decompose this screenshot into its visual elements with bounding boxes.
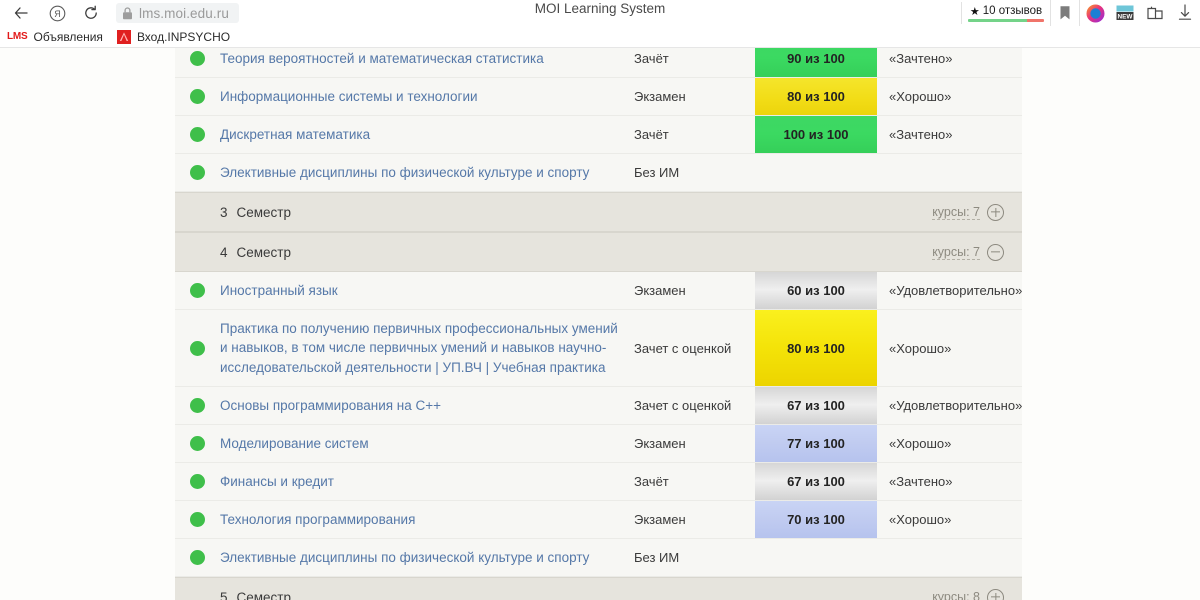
control-type-cell: Зачет с оценкой <box>634 387 755 424</box>
reviews-badge[interactable]: ★ 10 отзывов <box>961 2 1050 24</box>
mark-cell: «Хорошо» <box>877 78 1022 115</box>
table-row: Иностранный языкЭкзамен60 из 100«Удовлет… <box>175 272 1022 310</box>
svg-text:Я: Я <box>54 9 61 19</box>
score-cell: 67 из 100 <box>755 463 877 500</box>
collapse-minus-icon[interactable] <box>987 244 1004 261</box>
mark-cell: «Хорошо» <box>877 310 1022 386</box>
mark-cell <box>877 539 1022 576</box>
score-cell: 80 из 100 <box>755 78 877 115</box>
status-dot-icon <box>190 474 205 489</box>
course-link[interactable]: Моделирование систем <box>220 434 369 454</box>
status-dot-icon <box>190 398 205 413</box>
course-link[interactable]: Иностранный язык <box>220 281 338 301</box>
mark-cell: «Удовлетворительно» <box>877 272 1022 309</box>
address-bar[interactable]: lms.moi.edu.ru <box>116 3 239 23</box>
semester-course-count[interactable]: курсы: 7 <box>932 245 980 260</box>
lock-icon <box>120 6 134 20</box>
table-row: Моделирование системЭкзамен77 из 100«Хор… <box>175 425 1022 463</box>
course-name-cell: Элективные дисциплины по физической куль… <box>220 154 634 191</box>
mark-cell: «Хорошо» <box>877 501 1022 538</box>
course-name-cell: Дискретная математика <box>220 116 634 153</box>
reload-icon <box>83 5 99 21</box>
table-row: Теория вероятностей и математическая ста… <box>175 48 1022 78</box>
course-name-cell: Элективные дисциплины по физической куль… <box>220 539 634 576</box>
browser-chrome: Я lms.moi.edu.ru MOI Learning System <box>0 0 1200 48</box>
semester-header-row[interactable]: 5Семестркурсы: 8 <box>175 577 1022 600</box>
course-link[interactable]: Практика по получению первичных професси… <box>220 319 620 378</box>
status-dot-icon <box>190 283 205 298</box>
status-cell <box>175 425 220 462</box>
table-row: Основы программирования на С++Зачет с оц… <box>175 387 1022 425</box>
status-dot-icon <box>190 436 205 451</box>
mark-cell <box>877 154 1022 191</box>
status-cell <box>175 48 220 77</box>
semester-course-count[interactable]: курсы: 7 <box>932 205 980 220</box>
svg-text:NEW: NEW <box>1118 14 1134 21</box>
table-row: Элективные дисциплины по физической куль… <box>175 154 1022 192</box>
bookmark-item-inpsycho[interactable]: Вход.INPSYCHO <box>110 27 237 47</box>
yandex-home-button[interactable]: Я <box>42 1 72 25</box>
course-link[interactable]: Элективные дисциплины по физической куль… <box>220 163 589 183</box>
table-row: Финансы и кредитЗачёт67 из 100«Зачтено» <box>175 463 1022 501</box>
score-cell: 70 из 100 <box>755 501 877 538</box>
table-row: Технология программированияЭкзамен70 из … <box>175 501 1022 539</box>
mark-cell: «Хорошо» <box>877 425 1022 462</box>
status-cell <box>175 387 220 424</box>
course-link[interactable]: Дискретная математика <box>220 125 370 145</box>
course-link[interactable]: Информационные системы и технологии <box>220 87 478 107</box>
status-cell <box>175 154 220 191</box>
browser-toolbar: Я lms.moi.edu.ru MOI Learning System <box>0 0 1200 26</box>
course-link[interactable]: Технология программирования <box>220 510 415 530</box>
mark-cell: «Зачтено» <box>877 116 1022 153</box>
lms-site-icon: LMS <box>7 31 28 42</box>
score-cell: 67 из 100 <box>755 387 877 424</box>
score-cell: 90 из 100 <box>755 48 877 77</box>
control-type-cell: Экзамен <box>634 272 755 309</box>
status-cell <box>175 463 220 500</box>
course-name-cell: Иностранный язык <box>220 272 634 309</box>
table-row: Практика по получению первичных професси… <box>175 310 1022 387</box>
course-name-cell: Финансы и кредит <box>220 463 634 500</box>
rating-bar <box>968 19 1044 22</box>
score-cell <box>755 154 877 191</box>
status-cell <box>175 310 220 386</box>
course-name-cell: Технология программирования <box>220 501 634 538</box>
score-cell: 77 из 100 <box>755 425 877 462</box>
course-name-cell: Моделирование систем <box>220 425 634 462</box>
expand-plus-icon[interactable] <box>987 589 1004 600</box>
course-link[interactable]: Элективные дисциплины по физической куль… <box>220 548 589 568</box>
semester-number: 5 <box>220 590 228 600</box>
grades-table: Теория вероятностей и математическая ста… <box>175 48 1022 600</box>
semester-course-count[interactable]: курсы: 8 <box>932 590 980 600</box>
control-type-cell: Экзамен <box>634 78 755 115</box>
star-icon: ★ <box>970 5 980 18</box>
table-row: Информационные системы и технологииЭкзам… <box>175 78 1022 116</box>
semester-header-row[interactable]: 4Семестркурсы: 7 <box>175 232 1022 272</box>
score-cell: 80 из 100 <box>755 310 877 386</box>
status-dot-icon <box>190 550 205 565</box>
score-cell: 100 из 100 <box>755 116 877 153</box>
toolbar-right-actions: ★ 10 отзывов <box>961 0 1200 26</box>
bookmark-label: Объявления <box>34 30 103 44</box>
bookmark-item-announcements[interactable]: LMS Объявления <box>0 27 110 47</box>
yandex-logo-icon: Я <box>49 5 66 22</box>
semester-header-row[interactable]: 3Семестркурсы: 7 <box>175 192 1022 232</box>
status-dot-icon <box>190 127 205 142</box>
table-row: Дискретная математикаЗачёт100 из 100«Зач… <box>175 116 1022 154</box>
bookmark-flag-icon[interactable] <box>1050 0 1080 26</box>
table-row: Элективные дисциплины по физической куль… <box>175 539 1022 577</box>
new-extension-icon[interactable]: NEW <box>1110 0 1140 26</box>
control-type-cell: Без ИМ <box>634 154 755 191</box>
status-cell <box>175 501 220 538</box>
control-type-cell: Экзамен <box>634 501 755 538</box>
mark-cell: «Зачтено» <box>877 48 1022 77</box>
back-arrow-icon <box>13 5 29 21</box>
semester-label: Семестр <box>237 590 292 600</box>
status-dot-icon <box>190 165 205 180</box>
bookmark-label: Вход.INPSYCHO <box>137 30 230 44</box>
control-type-cell: Зачет с оценкой <box>634 310 755 386</box>
pocket-icon[interactable] <box>1140 0 1170 26</box>
status-cell <box>175 116 220 153</box>
profile-avatar-icon[interactable] <box>1080 0 1110 26</box>
reload-button[interactable] <box>76 1 106 25</box>
semester-number: 4 <box>220 245 228 260</box>
course-name-cell: Информационные системы и технологии <box>220 78 634 115</box>
status-dot-icon <box>190 89 205 104</box>
status-dot-icon <box>190 341 205 356</box>
status-cell <box>175 78 220 115</box>
reviews-label: 10 отзывов <box>983 5 1042 17</box>
mark-cell: «Зачтено» <box>877 463 1022 500</box>
control-type-cell: Зачёт <box>634 48 755 77</box>
score-cell: 60 из 100 <box>755 272 877 309</box>
inpsycho-site-icon <box>117 30 131 44</box>
back-button[interactable] <box>6 1 36 25</box>
course-link[interactable]: Теория вероятностей и математическая ста… <box>220 49 544 69</box>
status-dot-icon <box>190 512 205 527</box>
bookmarks-bar: LMS Объявления Вход.INPSYCHO <box>0 26 1200 48</box>
score-cell <box>755 539 877 576</box>
status-dot-icon <box>190 51 205 66</box>
semester-label: Семестр <box>237 245 292 260</box>
course-name-cell: Теория вероятностей и математическая ста… <box>220 48 634 77</box>
control-type-cell: Экзамен <box>634 425 755 462</box>
semester-label: Семестр <box>237 205 292 220</box>
mark-cell: «Удовлетворительно» <box>877 387 1022 424</box>
expand-plus-icon[interactable] <box>987 204 1004 221</box>
status-cell <box>175 272 220 309</box>
page-viewport: Теория вероятностей и математическая ста… <box>0 48 1200 600</box>
downloads-icon[interactable] <box>1170 0 1200 26</box>
course-name-cell: Практика по получению первичных професси… <box>220 310 634 386</box>
url-text: lms.moi.edu.ru <box>139 6 229 21</box>
semester-number: 3 <box>220 205 228 220</box>
control-type-cell: Зачёт <box>634 116 755 153</box>
control-type-cell: Без ИМ <box>634 539 755 576</box>
course-link[interactable]: Финансы и кредит <box>220 472 334 492</box>
status-cell <box>175 539 220 576</box>
control-type-cell: Зачёт <box>634 463 755 500</box>
course-link[interactable]: Основы программирования на С++ <box>220 396 441 416</box>
course-name-cell: Основы программирования на С++ <box>220 387 634 424</box>
